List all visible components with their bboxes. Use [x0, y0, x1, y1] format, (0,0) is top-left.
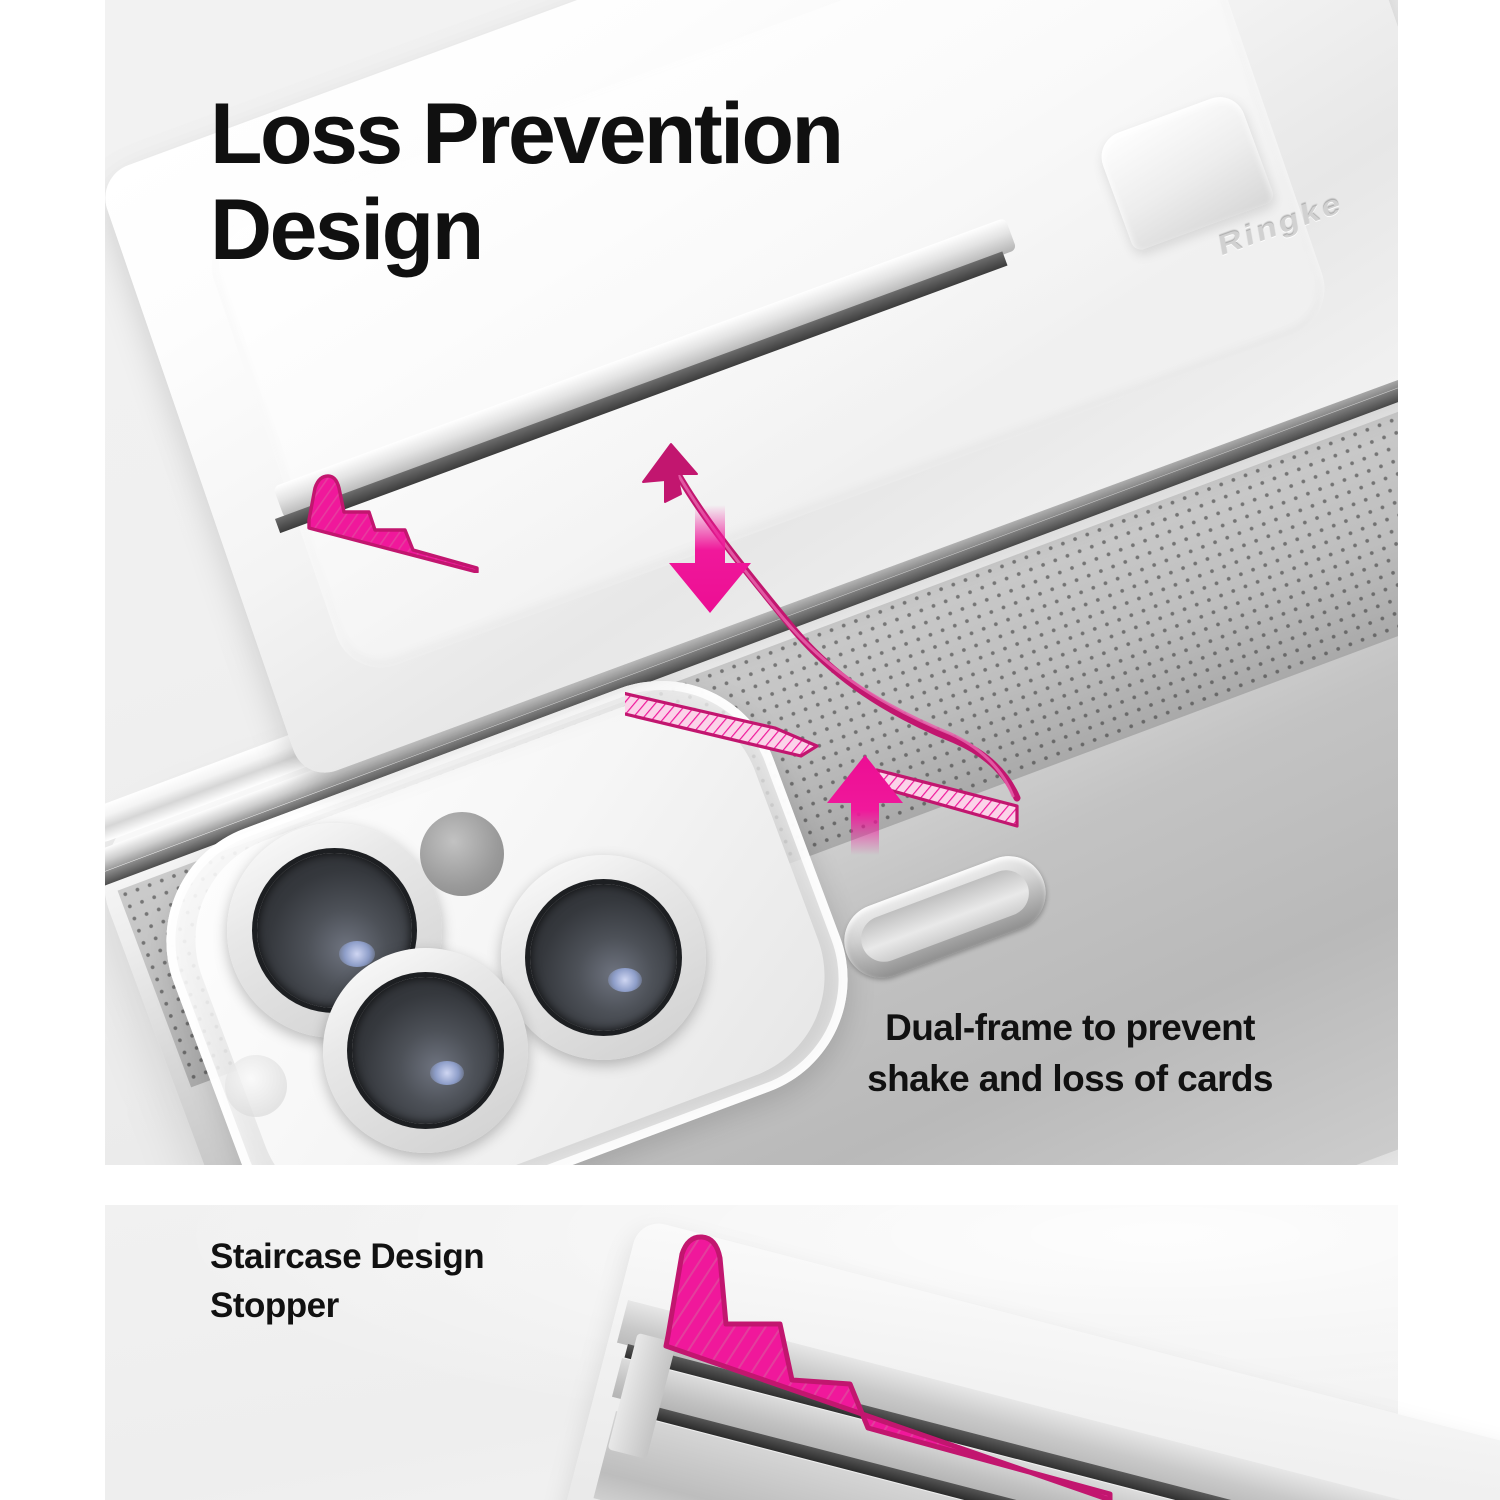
lidar-sensor	[420, 812, 504, 896]
staircase-stopper	[301, 468, 481, 573]
arrow-up-icon	[825, 755, 905, 855]
camera-lens-telephoto	[501, 855, 706, 1060]
product-feature-graphic: Ringke	[0, 0, 1500, 1500]
arrow-down-icon	[665, 505, 755, 615]
staircase-stopper-closeup	[640, 1232, 1120, 1500]
dual-frame-caption: Dual-frame to prevent shake and loss of …	[760, 1002, 1380, 1104]
camera-lens-ultrawide	[323, 948, 528, 1153]
lens-glint-icon	[430, 1061, 465, 1086]
camera-flash	[225, 1055, 287, 1117]
page-title: Loss Prevention Design	[210, 86, 1030, 279]
staircase-stopper-caption: Staircase Design Stopper	[210, 1232, 690, 1330]
lens-glint-icon	[608, 968, 643, 993]
